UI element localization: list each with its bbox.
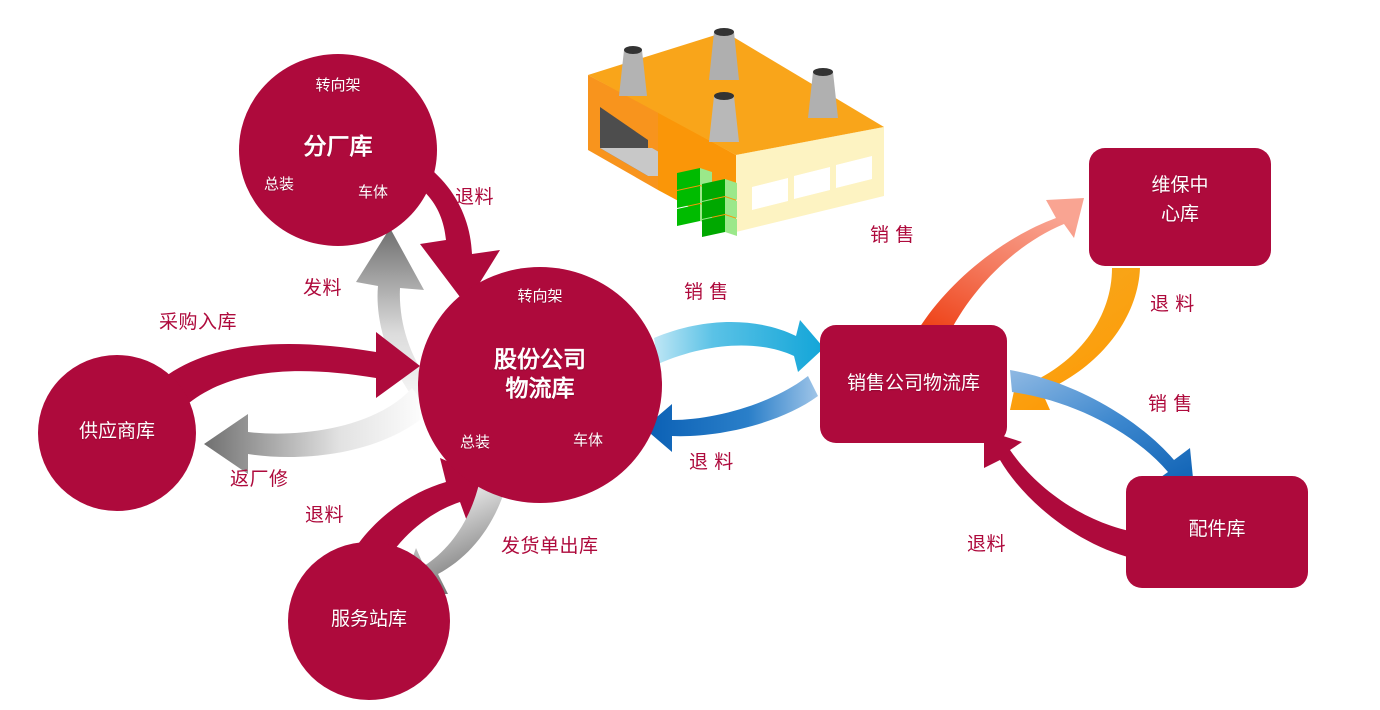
diagram-canvas: 转向架 分厂库 总装 车体 转向架 股份公司 物流库 总装 车体 供应商库 服务… [0,0,1380,710]
warehouse-building-illustration [0,0,1380,710]
